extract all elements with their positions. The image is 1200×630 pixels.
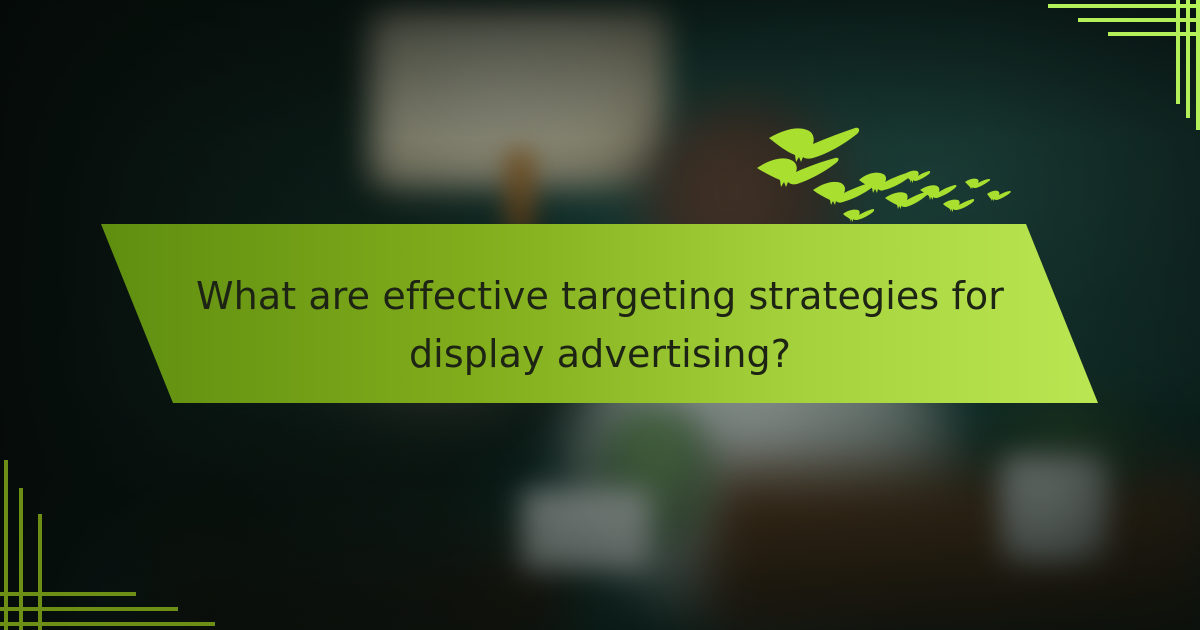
- page-title: What are effective targeting strategies …: [175, 268, 1025, 384]
- question-card: What are effective targeting strategies …: [0, 0, 1200, 630]
- corner-bracket-top-right-icon: [1030, 0, 1200, 130]
- flock-of-birds-icon: [755, 118, 1015, 223]
- headline-line-1: What are effective targeting strategies …: [175, 268, 1025, 326]
- headline-line-2: display advertising?: [175, 326, 1025, 384]
- corner-bracket-bottom-left-icon: [0, 430, 290, 630]
